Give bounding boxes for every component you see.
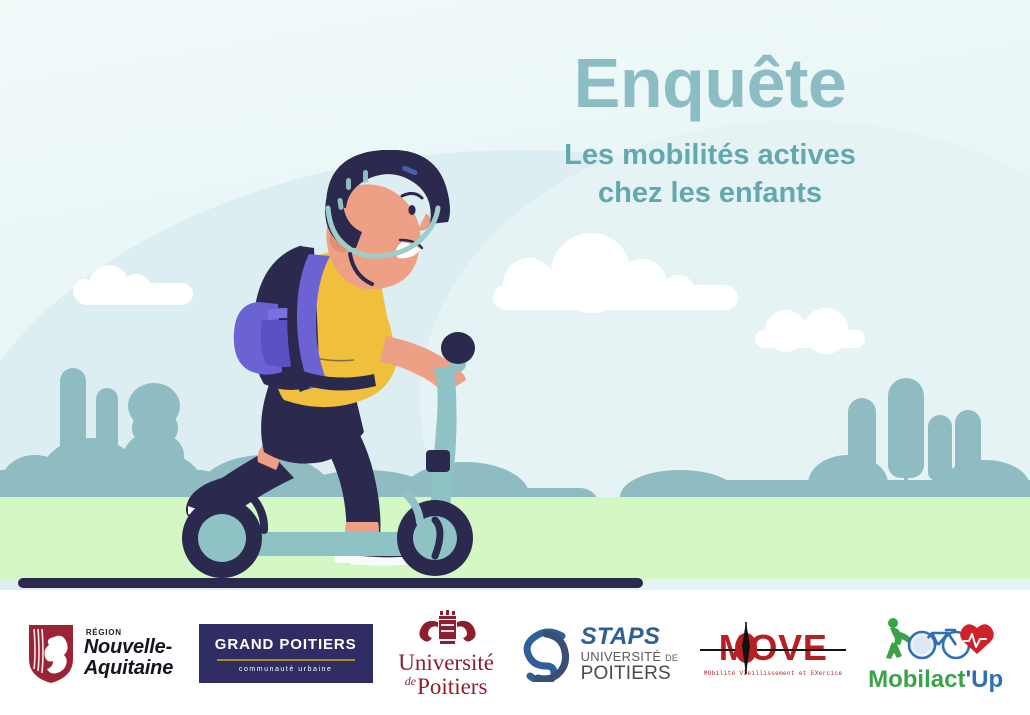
region-name-line-2: Aquitaine xyxy=(84,658,173,678)
grand-poitiers-title: GRAND POITIERS xyxy=(215,636,357,653)
page-subtitle-line-2: chez les enfants xyxy=(430,174,990,212)
grand-poitiers-subtitle: communauté urbaine xyxy=(215,666,357,673)
logo-mobilact-up: Mobilact'Up xyxy=(868,616,1003,692)
page-title: Enquête xyxy=(430,48,990,118)
staps-de: DE xyxy=(665,653,678,663)
poster: Enquête Les mobilités actives chez les e… xyxy=(0,0,1030,715)
logo-universite-de-poitiers: Université dePoitiers xyxy=(398,610,494,698)
staps-universite: UNIVERSITÉ xyxy=(581,649,662,664)
rider-and-scooter-illustration xyxy=(150,150,580,590)
staps-title: STAPS xyxy=(581,625,679,649)
logo-grand-poitiers: GRAND POITIERS communauté urbaine xyxy=(199,624,373,683)
page-subtitle-line-1: Les mobilités actives xyxy=(430,136,990,174)
move-wordmark: MOVE xyxy=(704,630,843,666)
universite-poitiers-crest-icon xyxy=(410,610,482,650)
logo-staps-universite-poitiers: STAPS UNIVERSITÉ DE POITIERS xyxy=(520,625,679,683)
grand-poitiers-rule xyxy=(217,659,355,661)
logo-region-nouvelle-aquitaine: RÉGION Nouvelle- Aquitaine xyxy=(27,623,173,685)
staps-s-monogram-icon xyxy=(520,626,572,682)
move-ecg-line-icon xyxy=(700,649,847,651)
region-name-line-1: Nouvelle- xyxy=(84,636,172,658)
mobilact-up-text: 'Up xyxy=(965,666,1003,693)
universite-de: de xyxy=(405,674,416,688)
move-tagline: MObilité VIeillissement et EXercice xyxy=(704,670,843,677)
partner-logo-strip: RÉGION Nouvelle- Aquitaine GRAND POITIER… xyxy=(0,592,1030,715)
move-needle-icon xyxy=(733,621,759,675)
page-subtitle: Les mobilités actives chez les enfants xyxy=(430,136,990,213)
logo-move: MOVE MObilité VIeillissement et EXercice xyxy=(704,630,843,677)
mobilact-walker-bike-heart-icon xyxy=(876,616,996,662)
universite-line-1: Université xyxy=(398,651,494,674)
universite-line-2: Poitiers xyxy=(417,674,487,699)
mobilact-text: Mobilact xyxy=(868,666,965,693)
nouvelle-aquitaine-shield-icon xyxy=(27,623,75,685)
cloud-right xyxy=(755,330,865,348)
staps-poitiers: POITIERS xyxy=(581,664,679,683)
nouvelle-aquitaine-wordmark: RÉGION Nouvelle- Aquitaine xyxy=(84,629,173,678)
